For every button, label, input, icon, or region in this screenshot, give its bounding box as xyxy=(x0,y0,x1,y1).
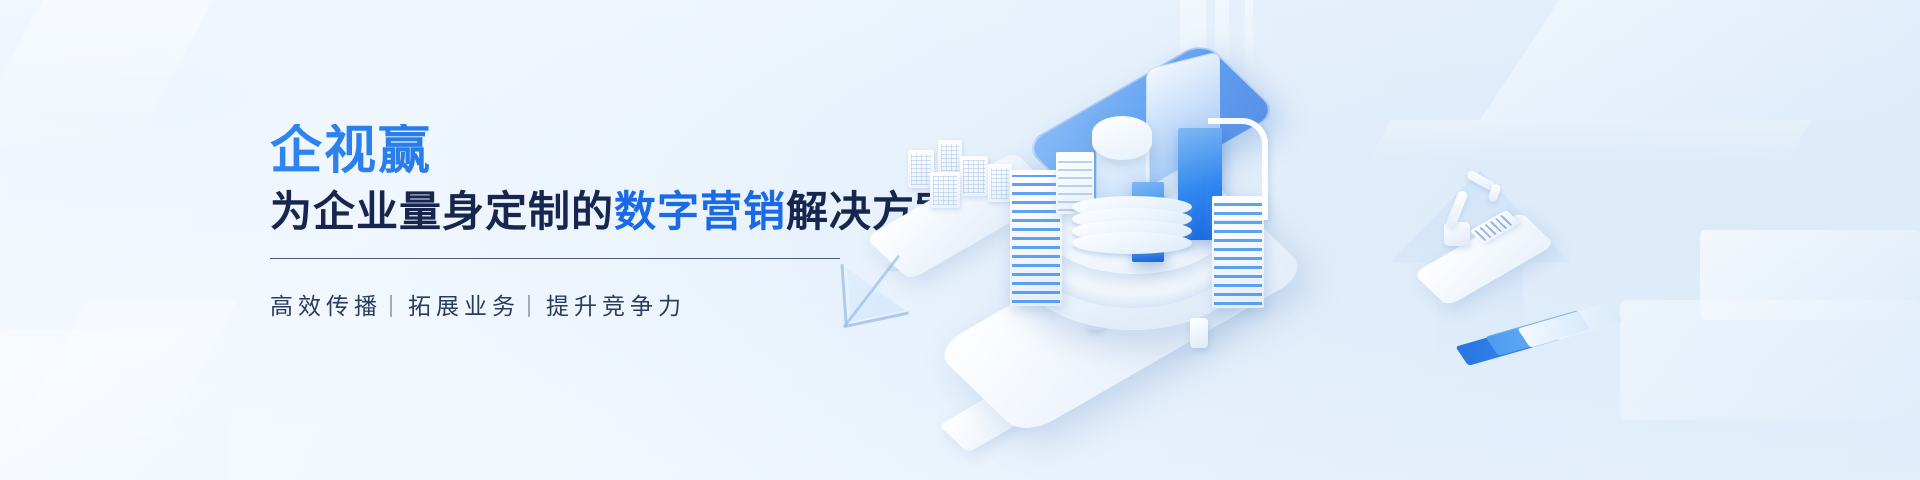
headline-before: 为企业量身定制的 xyxy=(270,188,614,235)
bg-diagonal xyxy=(0,0,213,160)
brand-title: 企视赢 xyxy=(270,124,910,179)
feature-separator: | xyxy=(526,291,532,318)
bg-diagonal xyxy=(0,300,238,480)
ribbon-layer xyxy=(1517,302,1622,348)
knob xyxy=(1190,318,1208,348)
feature-item-2: 拓展业务 xyxy=(408,287,520,321)
tower-white-left xyxy=(1010,170,1062,306)
bg-block xyxy=(0,330,230,480)
mini-building xyxy=(960,156,988,196)
ribbon-books xyxy=(1460,312,1620,364)
feature-separator: | xyxy=(388,291,394,318)
disc-stack xyxy=(1072,196,1192,250)
feature-item-3: 提升竞争力 xyxy=(546,287,686,321)
mini-building xyxy=(930,172,960,208)
hero-illustration xyxy=(860,0,1920,480)
glass-triangle-icon xyxy=(840,251,908,328)
hero-copy: 企视赢 为企业量身定制的数字营销解决方案 高效传播 | 拓展业务 | 提升竞争力 xyxy=(270,124,910,321)
hero-banner: 企视赢 为企业量身定制的数字营销解决方案 高效传播 | 拓展业务 | 提升竞争力 xyxy=(0,0,1920,480)
feature-list: 高效传播 | 拓展业务 | 提升竞争力 xyxy=(270,287,910,321)
headline-highlight: 数字营销 xyxy=(614,188,786,235)
mini-building xyxy=(988,164,1012,202)
mini-building xyxy=(938,140,962,174)
pipe-arm xyxy=(1208,118,1268,220)
headline: 为企业量身定制的数字营销解决方案 xyxy=(270,187,910,237)
feature-item-1: 高效传播 xyxy=(270,287,382,321)
divider-rule xyxy=(270,258,840,259)
cylinder-top xyxy=(1092,116,1152,160)
